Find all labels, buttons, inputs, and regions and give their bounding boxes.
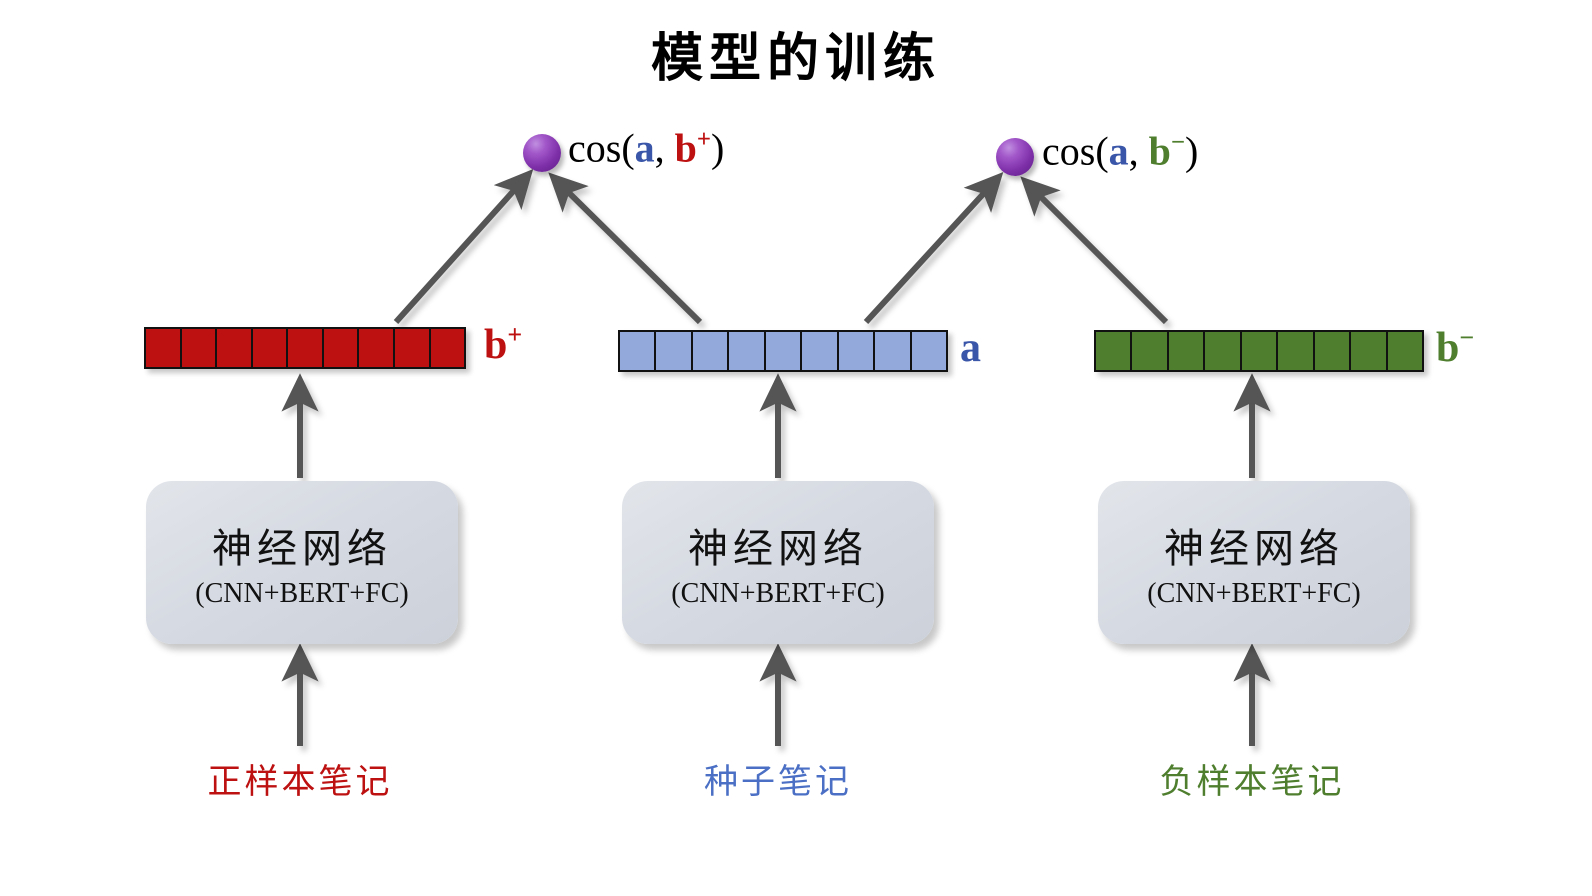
encoder-positive[interactable]: 神经网络 (CNN+BERT+FC) [146, 481, 458, 644]
cos-positive-other-symbol: b [675, 125, 697, 170]
encoder-anchor-title: 神经网络 [688, 516, 868, 574]
vector-cell [359, 329, 395, 367]
vector-cell [395, 329, 431, 367]
encoder-negative-subtitle: (CNN+BERT+FC) [1147, 578, 1360, 610]
vector-cell [802, 332, 838, 370]
positive-embedding-label: b+ [484, 322, 522, 366]
cos-positive-suffix: ) [711, 125, 724, 170]
encoder-negative[interactable]: 神经网络 (CNN+BERT+FC) [1098, 481, 1410, 644]
vector-cell [1315, 332, 1351, 370]
negative-embedding-vector [1094, 330, 1424, 372]
cos-positive-label: cos(a, b+) [568, 128, 724, 168]
vector-cell [656, 332, 692, 370]
vector-cell [1205, 332, 1241, 370]
vector-cell [693, 332, 729, 370]
negative-vector-sign: − [1459, 323, 1474, 352]
cos-negative-anchor-symbol: a [1109, 128, 1129, 173]
positive-vector-symbol: b [484, 322, 507, 368]
vector-cell [182, 329, 218, 367]
vector-cell [1388, 332, 1422, 370]
encoder-positive-title: 神经网络 [212, 516, 392, 574]
cos-positive-sign: + [697, 126, 711, 153]
cos-positive-separator: , [655, 125, 675, 170]
cos-positive-node-icon[interactable] [523, 134, 561, 172]
vector-cell [766, 332, 802, 370]
vector-cell [431, 329, 465, 367]
vector-cell [217, 329, 253, 367]
cos-negative-separator: , [1129, 128, 1149, 173]
cos-positive-prefix: cos( [568, 125, 635, 170]
positive-embedding-vector [144, 327, 466, 369]
encoder-anchor[interactable]: 神经网络 (CNN+BERT+FC) [622, 481, 934, 644]
cos-positive-anchor-symbol: a [635, 125, 655, 170]
negative-vector-symbol: b [1436, 325, 1459, 371]
diagram-canvas: 模型的训练 [0, 0, 1592, 896]
vector-cell [1132, 332, 1168, 370]
anchor-embedding-vector [618, 330, 948, 372]
vector-cell [839, 332, 875, 370]
page-title: 模型的训练 [0, 16, 1592, 91]
arrow-negative-to-cos-negative [1028, 184, 1166, 322]
cos-negative-suffix: ) [1185, 128, 1198, 173]
vector-cell [1169, 332, 1205, 370]
vector-cell [620, 332, 656, 370]
vector-cell [729, 332, 765, 370]
vector-cell [1242, 332, 1278, 370]
encoder-positive-subtitle: (CNN+BERT+FC) [195, 578, 408, 610]
vector-cell [875, 332, 911, 370]
cos-negative-sign: − [1171, 129, 1185, 156]
cos-negative-prefix: cos( [1042, 128, 1109, 173]
anchor-vector-symbol: a [960, 325, 981, 371]
input-label-anchor: 种子笔记 [704, 754, 852, 803]
negative-embedding-label: b− [1436, 325, 1474, 369]
arrow-anchor-to-cos-positive [556, 180, 700, 322]
arrow-anchor-to-cos-negative [866, 180, 996, 322]
vector-cell [1278, 332, 1314, 370]
encoder-anchor-subtitle: (CNN+BERT+FC) [671, 578, 884, 610]
positive-vector-sign: + [507, 320, 522, 349]
vector-cell [1096, 332, 1132, 370]
vector-cell [288, 329, 324, 367]
cos-negative-node-icon[interactable] [996, 138, 1034, 176]
vector-cell [324, 329, 360, 367]
vector-cell [146, 329, 182, 367]
vector-cell [912, 332, 946, 370]
vector-cell [1351, 332, 1387, 370]
input-label-positive: 正样本笔记 [208, 754, 393, 803]
vector-cell [253, 329, 289, 367]
cos-negative-other-symbol: b [1149, 128, 1171, 173]
input-label-negative: 负样本笔记 [1160, 754, 1345, 803]
arrow-positive-to-cos-positive [396, 177, 526, 322]
encoder-negative-title: 神经网络 [1164, 516, 1344, 574]
cos-negative-label: cos(a, b−) [1042, 131, 1198, 171]
anchor-embedding-label: a [960, 325, 981, 369]
